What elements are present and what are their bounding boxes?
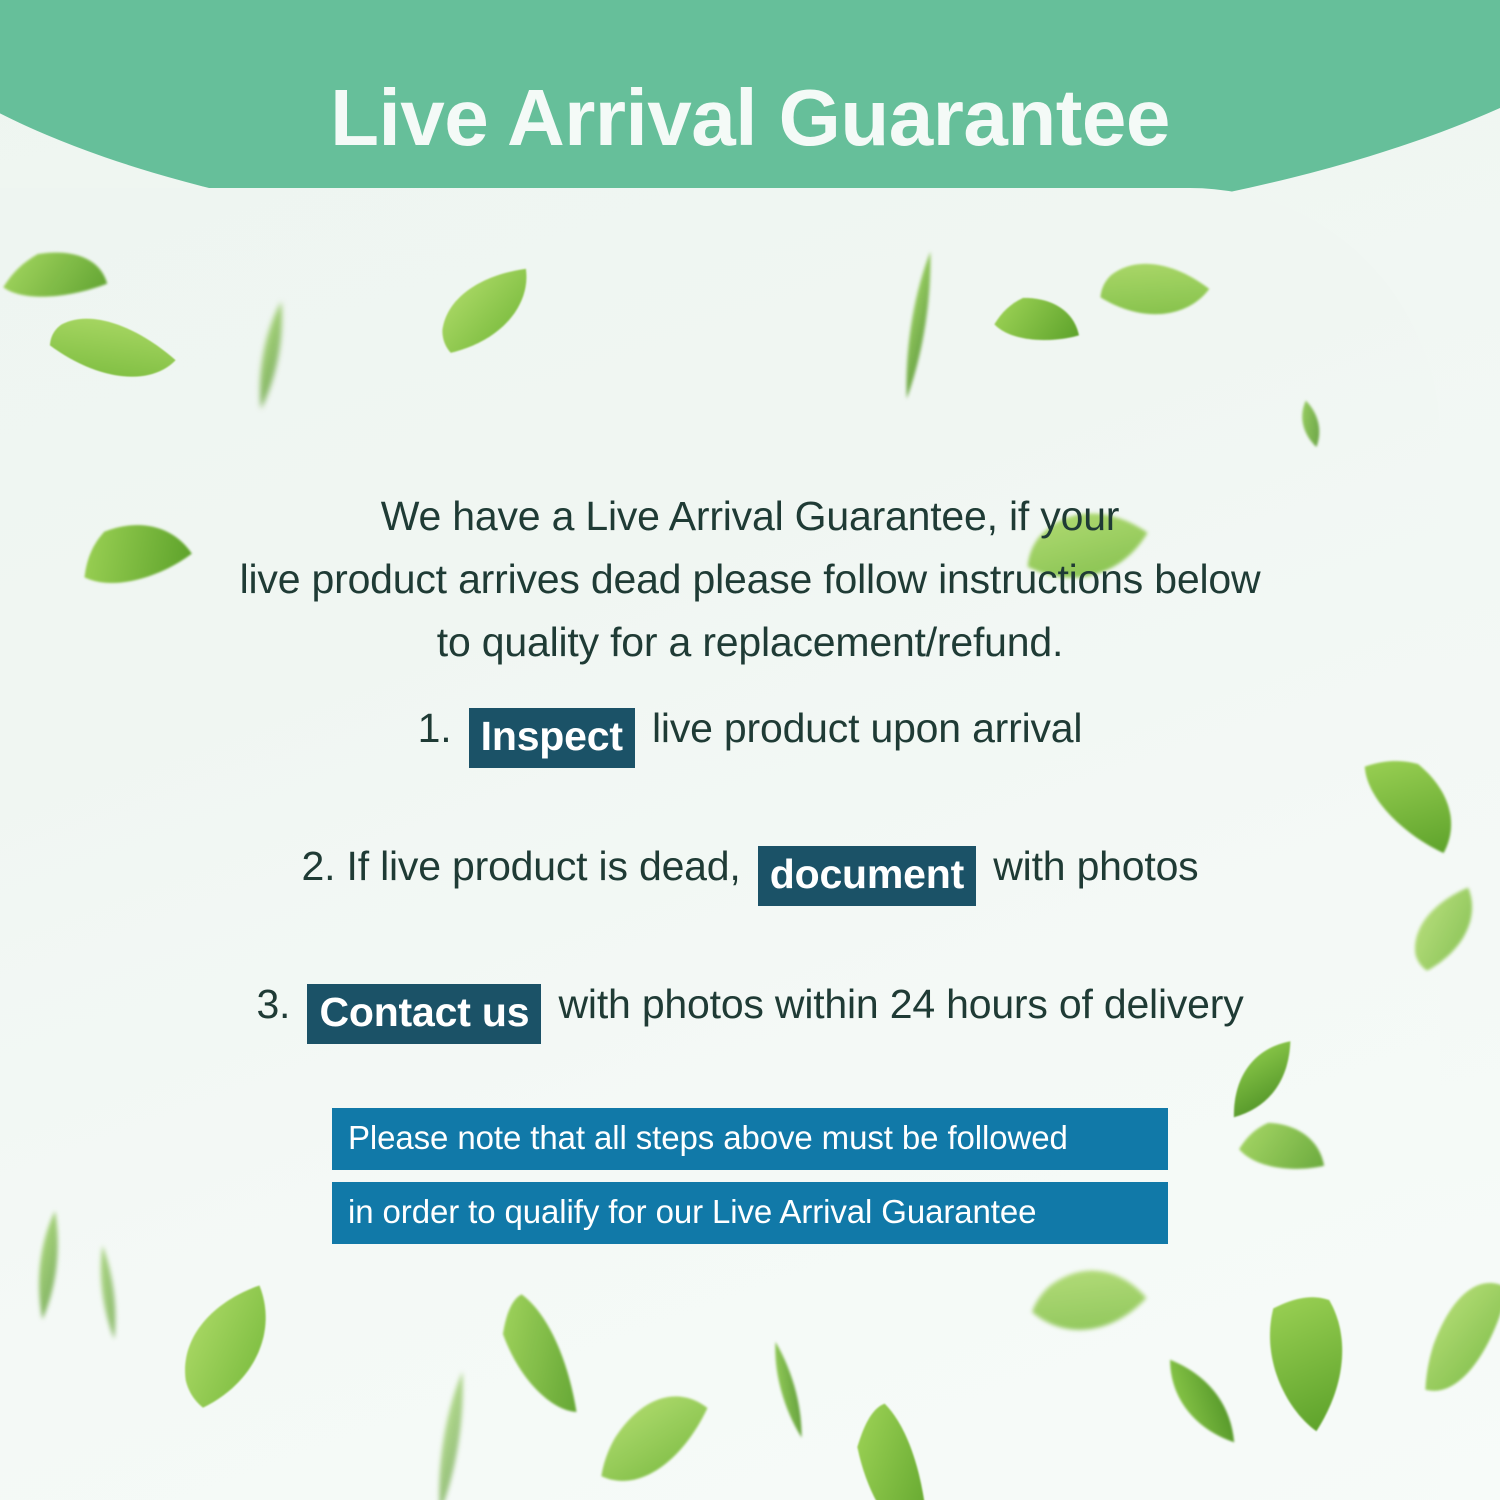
intro-paragraph: We have a Live Arrival Guarantee, if you…: [150, 485, 1350, 674]
step-item-3: 3. Contact us with photos within 24 hour…: [0, 976, 1500, 1036]
step-text-2-before: If live product is dead,: [347, 843, 741, 889]
intro-line-2: live product arrives dead please follow …: [150, 548, 1350, 611]
note-bar-line-1: Please note that all steps above must be…: [332, 1108, 1168, 1170]
step-item-1: 1. Inspect live product upon arrival: [0, 700, 1500, 760]
step-highlight-contact-us[interactable]: Contact us: [307, 984, 541, 1044]
intro-line-3: to quality for a replacement/refund.: [150, 611, 1350, 674]
step-number-3: 3.: [256, 981, 290, 1027]
step-text-3: with photos within 24 hours of delivery: [559, 981, 1244, 1027]
steps-list: 1. Inspect live product upon arrival 2. …: [0, 700, 1500, 1036]
note-bar-line-2: in order to qualify for our Live Arrival…: [332, 1182, 1168, 1244]
notes-block: Please note that all steps above must be…: [332, 1108, 1168, 1244]
step-highlight-inspect[interactable]: Inspect: [469, 708, 635, 768]
step-item-2: 2. If live product is dead, document wit…: [0, 838, 1500, 898]
step-text-1: live product upon arrival: [652, 705, 1082, 751]
poster-content: Live Arrival Guarantee We have a Live Ar…: [0, 0, 1500, 1500]
page-title: Live Arrival Guarantee: [0, 78, 1500, 158]
step-number-1: 1.: [418, 705, 452, 751]
live-arrival-guarantee-poster: Live Arrival Guarantee We have a Live Ar…: [0, 0, 1500, 1500]
step-number-2: 2.: [302, 843, 336, 889]
intro-line-1: We have a Live Arrival Guarantee, if you…: [150, 485, 1350, 548]
step-highlight-document[interactable]: document: [758, 846, 976, 906]
step-text-2-after: with photos: [993, 843, 1198, 889]
